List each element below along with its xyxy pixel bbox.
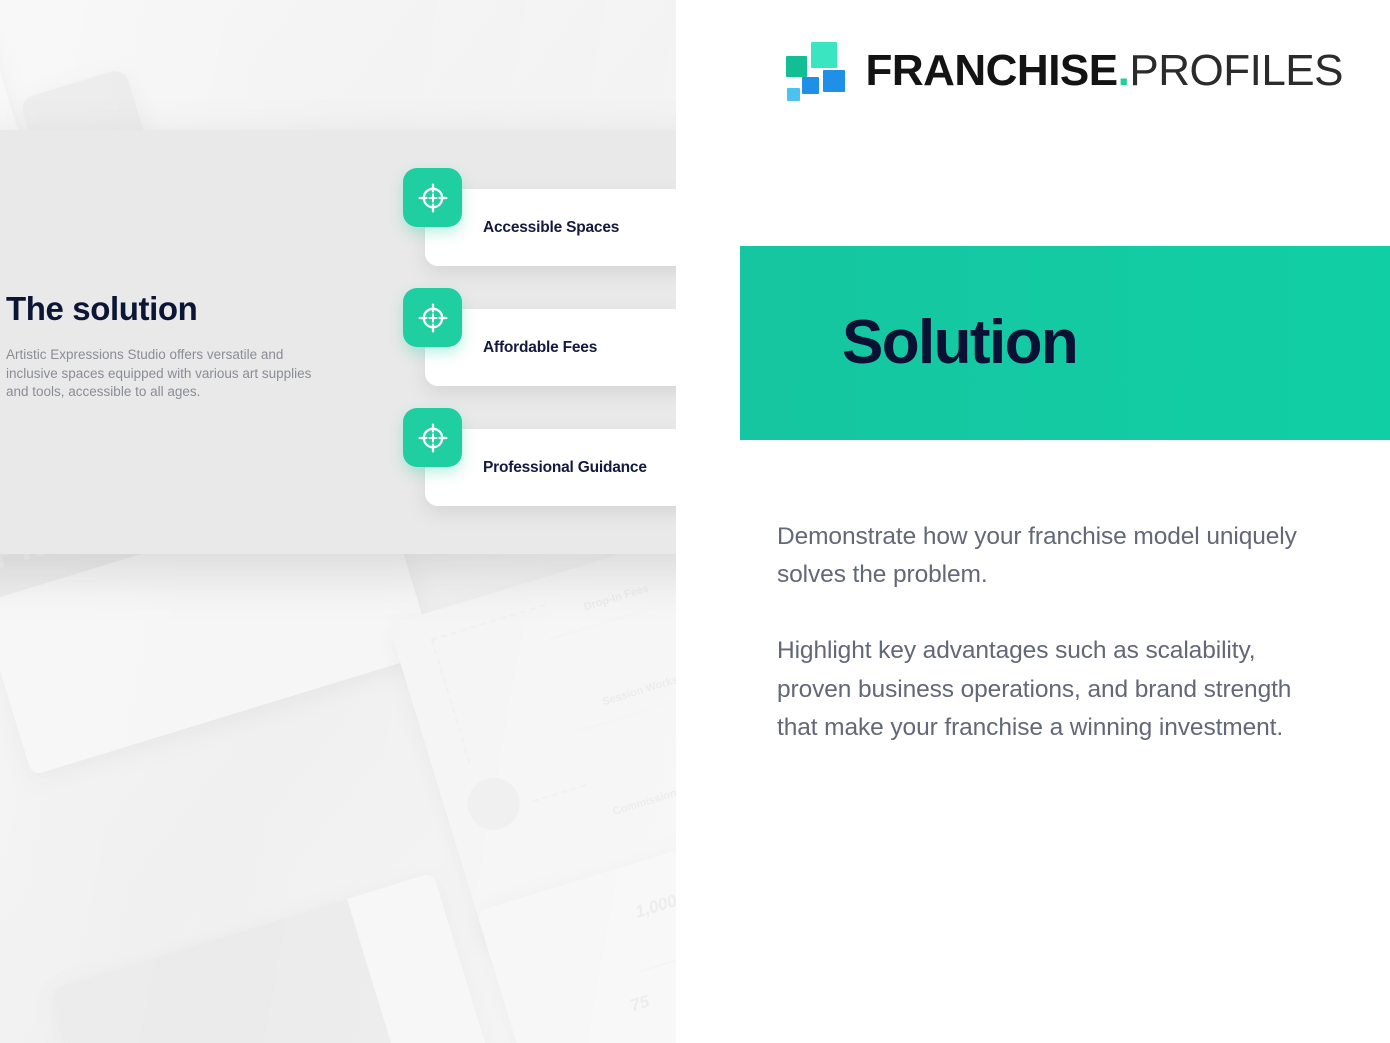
feature-item[interactable]: Affordable Fees <box>403 288 693 381</box>
slide-canvas: T rban and substantial ⤵ SIZ 000,000 Pit… <box>0 0 1390 1043</box>
preview-description: Artistic Expressions Studio offers versa… <box>6 346 326 402</box>
section-description: Demonstrate how your franchise model uni… <box>777 518 1317 747</box>
franchise-profiles-logo-mark <box>785 40 845 102</box>
feature-card[interactable]: Accessible Spaces <box>425 189 708 266</box>
logo-square-5 <box>787 88 800 101</box>
logo-square-1 <box>811 42 837 68</box>
feature-item[interactable]: Accessible Spaces <box>403 168 693 261</box>
logo-square-2 <box>786 56 807 77</box>
brand-word-primary: FRANCHISE <box>865 46 1117 95</box>
preview-feature-list: Accessible Spaces <box>403 168 693 501</box>
logo-square-4 <box>802 77 819 94</box>
crosshair-target-icon <box>403 408 462 467</box>
feature-item[interactable]: Professional Guidance <box>403 408 693 501</box>
right-content-pane: FRANCHISE.PROFILES Solution Demonstrate … <box>676 0 1390 1043</box>
feature-card[interactable]: Affordable Fees <box>425 309 708 386</box>
section-banner: Solution <box>740 246 1390 440</box>
description-paragraph-2: Highlight key advantages such as scalabi… <box>777 632 1317 747</box>
page-title: Solution <box>740 312 1077 374</box>
feature-card[interactable]: Professional Guidance <box>425 429 708 506</box>
solution-slide-preview: The solution Artistic Expressions Studio… <box>0 130 740 554</box>
brand-word-secondary: PROFILES <box>1129 46 1343 95</box>
preview-heading: The solution <box>6 290 197 328</box>
brand-word-dot: . <box>1118 46 1130 95</box>
solution-slide-preview-content: The solution Artistic Expressions Studio… <box>0 130 740 554</box>
crosshair-target-icon <box>403 168 462 227</box>
crosshair-target-icon <box>403 288 462 347</box>
brand-wordmark: FRANCHISE.PROFILES <box>865 49 1343 93</box>
description-paragraph-1: Demonstrate how your franchise model uni… <box>777 518 1317 594</box>
logo-square-3 <box>823 70 845 92</box>
brand-lockup: FRANCHISE.PROFILES <box>785 40 1343 102</box>
